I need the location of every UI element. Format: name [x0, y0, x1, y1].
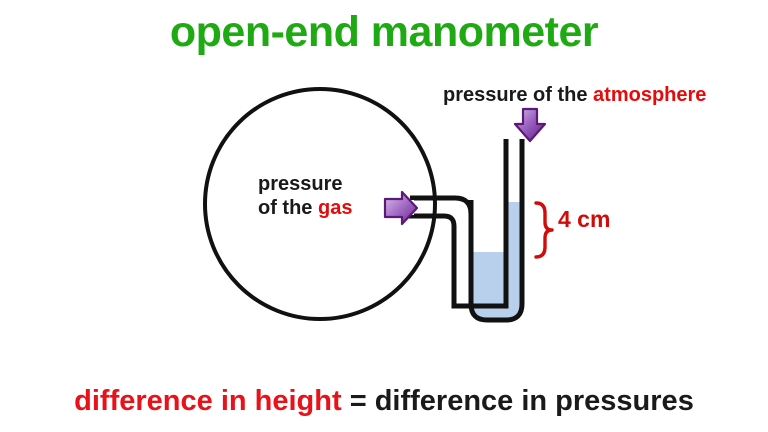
manometer-illustration: open-end manometer: [0, 0, 768, 432]
height-difference-brace: [536, 203, 552, 257]
u-tube: [454, 139, 522, 320]
mercury-column: [472, 202, 521, 319]
page-title: open-end manometer: [0, 8, 768, 57]
gas-label-line2: of the gas: [258, 197, 352, 221]
height-measurement-label: 4 cm: [558, 206, 610, 233]
diagram-canvas: [0, 0, 768, 432]
atmosphere-pressure-arrow: [515, 109, 545, 141]
gas-label-red: gas: [318, 197, 352, 219]
caption-black: = difference in pressures: [342, 385, 694, 417]
atmosphere-label-black: pressure of the: [443, 84, 593, 106]
caption-red: difference in height: [74, 385, 341, 417]
gas-pressure-label: pressure of the gas: [258, 173, 352, 220]
gas-label-line1: pressure: [258, 173, 352, 197]
atmosphere-label-red: atmosphere: [593, 84, 706, 106]
caption: difference in height = difference in pre…: [0, 385, 768, 418]
atmosphere-pressure-label: pressure of the atmosphere: [443, 84, 706, 108]
gas-pressure-arrow: [385, 192, 417, 224]
connector-pipe: [404, 198, 471, 292]
